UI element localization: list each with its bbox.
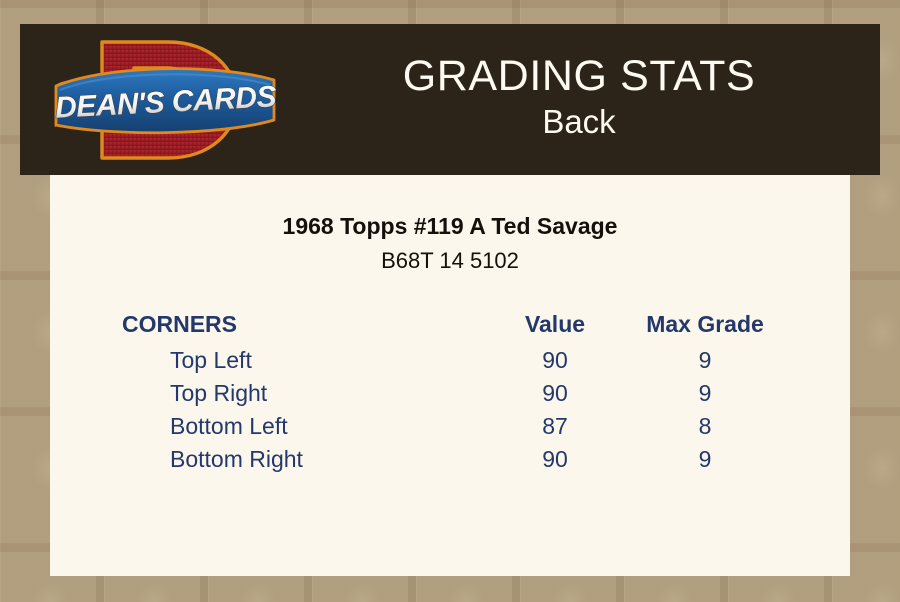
row-max-grade: 8 [630, 410, 780, 443]
table-row: Top Left 90 9 [120, 344, 780, 377]
row-label: Bottom Right [120, 443, 480, 476]
header-titles: GRADING STATS Back [300, 54, 880, 144]
row-label: Top Left [120, 344, 480, 377]
table-header-row: CORNERS Value Max Grade [120, 311, 780, 344]
row-max-grade: 9 [630, 443, 780, 476]
header-bar: DEAN'S CARDS GRADING STATS Back [20, 24, 880, 175]
row-max-grade: 9 [630, 377, 780, 410]
page-subtitle: Back [300, 100, 858, 145]
row-label: Bottom Left [120, 410, 480, 443]
row-value: 90 [480, 344, 630, 377]
table-row: Top Right 90 9 [120, 377, 780, 410]
grading-stats-table: CORNERS Value Max Grade Top Left 90 9 To… [120, 311, 780, 476]
content-panel: 1968 Topps #119 A Ted Savage B68T 14 510… [50, 175, 850, 576]
table-row: Bottom Right 90 9 [120, 443, 780, 476]
row-value: 90 [480, 377, 630, 410]
row-label: Top Right [120, 377, 480, 410]
column-header-max-grade: Max Grade [630, 311, 780, 344]
page-title: GRADING STATS [300, 54, 858, 100]
table-row: Bottom Left 87 8 [120, 410, 780, 443]
row-max-grade: 9 [630, 344, 780, 377]
card-identifier: B68T 14 5102 [50, 244, 850, 277]
column-header-corners: CORNERS [120, 311, 480, 344]
deans-cards-logo[interactable]: DEAN'S CARDS [40, 30, 300, 170]
row-value: 90 [480, 443, 630, 476]
column-header-value: Value [480, 311, 630, 344]
row-value: 87 [480, 410, 630, 443]
card-title: 1968 Topps #119 A Ted Savage [50, 211, 850, 242]
